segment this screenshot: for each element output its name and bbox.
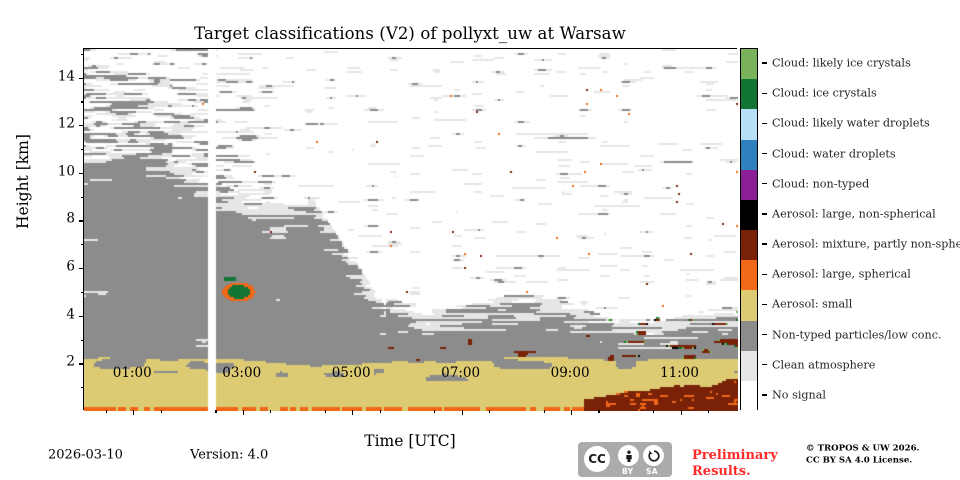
cc-by-label: BY (622, 467, 633, 476)
x-tick-minor (544, 410, 545, 413)
legend-swatch (741, 49, 757, 80)
legend-swatch (741, 260, 757, 291)
y-tick-label: 2 (66, 356, 75, 370)
legend-entry-label: Aerosol: small (772, 298, 852, 311)
cc-logo-icon: CC (584, 446, 610, 472)
legend-swatch (741, 351, 757, 382)
y-tick-minor (81, 54, 84, 55)
y-tick-minor (81, 387, 84, 388)
x-tick-label: 01:00 (113, 367, 152, 381)
y-tick (79, 316, 84, 317)
legend-colorbar (740, 48, 758, 410)
x-tick (133, 410, 134, 415)
y-tick (79, 268, 84, 269)
y-tick-minor (81, 340, 84, 341)
legend-entry-label: Cloud: likely ice crystals (772, 57, 911, 70)
y-tick (79, 125, 84, 126)
creative-commons-badge[interactable]: CC BY SA (578, 442, 672, 477)
y-tick-label: 6 (66, 260, 75, 274)
y-tick-label: 14 (58, 70, 75, 84)
legend-entry-label: Cloud: likely water droplets (772, 117, 930, 130)
legend-tick (762, 304, 767, 305)
y-tick-minor (81, 149, 84, 150)
x-tick-label: 09:00 (551, 367, 590, 381)
y-tick-minor (81, 197, 84, 198)
legend-entry-label: Cloud: ice crystals (772, 87, 877, 100)
legend-entry-label: Aerosol: mixture, partly non-spherical (772, 238, 960, 251)
legend-entry-label: Cloud: water droplets (772, 147, 896, 160)
classification-plot[interactable] (83, 48, 737, 410)
legend-entry-label: Aerosol: large, non-spherical (772, 207, 936, 220)
y-tick (79, 173, 84, 174)
legend-swatch (741, 79, 757, 110)
legend-tick (762, 183, 767, 184)
legend-swatch (741, 321, 757, 352)
footer-date: 2026-03-10 (48, 448, 123, 463)
x-tick-minor (325, 410, 326, 413)
y-tick (79, 78, 84, 79)
footer-version: Version: 4.0 (190, 448, 268, 463)
copyright-line-1: © TROPOS & UW 2026. (806, 443, 920, 455)
legend-tick (762, 274, 767, 275)
cc-by-person-icon (618, 445, 639, 466)
x-tick (352, 410, 353, 415)
legend-swatch (741, 170, 757, 201)
x-tick (571, 410, 572, 415)
x-tick-minor (161, 410, 162, 413)
x-tick-label: 07:00 (441, 367, 480, 381)
x-tick (243, 410, 244, 415)
x-tick-minor (434, 410, 435, 413)
classification-heatmap-canvas (84, 49, 738, 411)
y-tick-minor (81, 244, 84, 245)
legend-swatch (741, 230, 757, 261)
x-tick (462, 410, 463, 415)
legend-tick (762, 62, 767, 63)
legend-swatch (741, 200, 757, 231)
y-tick-label: 4 (66, 308, 75, 322)
legend-entry-label: Clean atmosphere (772, 358, 875, 371)
preliminary-line-2: Results. (692, 464, 778, 480)
x-tick-label: 11:00 (660, 367, 699, 381)
legend-swatch (741, 109, 757, 140)
cc-mark-text: CC (588, 453, 606, 465)
copyright-notice: © TROPOS & UW 2026. CC BY SA 4.0 License… (806, 443, 920, 468)
legend-entry-label: Non-typed particles/low conc. (772, 328, 942, 341)
preliminary-results-note: Preliminary Results. (692, 448, 778, 480)
x-tick-minor (106, 410, 107, 413)
x-tick-minor (215, 410, 216, 413)
legend-entry-label: Aerosol: large, spherical (772, 268, 911, 281)
y-tick-label: 8 (66, 213, 75, 227)
cc-sa-share-alike-icon (643, 445, 664, 466)
copyright-line-2: CC BY SA 4.0 License. (806, 455, 920, 467)
legend-swatch (741, 290, 757, 321)
y-tick-minor (81, 292, 84, 293)
legend-tick (762, 364, 767, 365)
legend-swatch (741, 140, 757, 171)
x-tick-minor (489, 410, 490, 413)
x-tick-minor (270, 410, 271, 413)
x-tick-minor (598, 410, 599, 413)
x-tick-minor (708, 410, 709, 413)
x-tick-minor (380, 410, 381, 413)
y-tick-label: 12 (58, 117, 75, 131)
legend-tick (762, 394, 767, 395)
legend-tick (762, 153, 767, 154)
y-tick (79, 220, 84, 221)
figure-root: Target classifications (V2) of pollyxt_u… (0, 0, 960, 480)
legend-tick (762, 123, 767, 124)
legend-swatch (741, 381, 757, 412)
y-tick-minor (81, 101, 84, 102)
y-tick-label: 10 (58, 165, 75, 179)
x-tick-label: 03:00 (222, 367, 261, 381)
y-axis-title: Height [km] (14, 134, 32, 229)
page-title: Target classifications (V2) of pollyxt_u… (83, 24, 737, 43)
legend-tick (762, 334, 767, 335)
legend-tick (762, 243, 767, 244)
x-tick (681, 410, 682, 415)
x-tick-minor (653, 410, 654, 413)
preliminary-line-1: Preliminary (692, 448, 778, 464)
cc-sa-label: SA (646, 467, 658, 476)
legend-tick (762, 93, 767, 94)
x-tick-label: 05:00 (332, 367, 371, 381)
legend-entry-label: No signal (772, 388, 826, 401)
legend-entry-label: Cloud: non-typed (772, 177, 869, 190)
legend-tick (762, 213, 767, 214)
y-tick (79, 363, 84, 364)
